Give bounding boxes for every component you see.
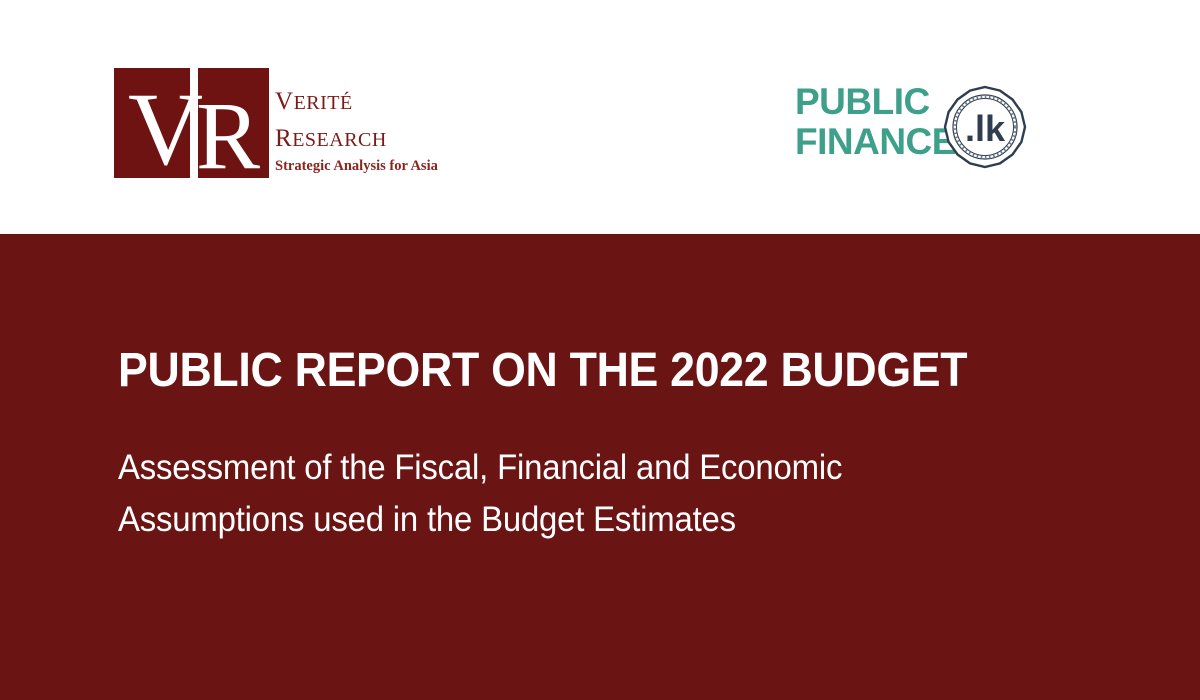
header-band: V R Verité Research Strategic Analysis f… [0,0,1200,234]
report-subtitle-line-1: Assessment of the Fiscal, Financial and … [118,442,1067,494]
vr-letter-r: R [196,88,260,184]
publicfinance-line-1: PUBLIC [795,82,955,122]
report-subtitle: Assessment of the Fiscal, Financial and … [118,398,1067,546]
title-banner: PUBLIC REPORT ON THE 2022 BUDGET Assessm… [0,234,1200,700]
vr-monogram-letters: V R [112,66,270,178]
verite-vr-monogram: V R [112,66,270,178]
report-title: PUBLIC REPORT ON THE 2022 BUDGET [118,344,1057,398]
verite-research-logo: V R Verité Research Strategic Analysis f… [112,66,462,182]
report-subtitle-line-2: Assumptions used in the Budget Estimates [118,494,1067,546]
title-block: PUBLIC REPORT ON THE 2022 BUDGET Assessm… [118,344,1128,546]
publicfinance-wordmark: PUBLIC FINANCE [795,82,955,162]
verite-name-line-1: Verité [275,80,465,117]
publicfinance-lk-logo: PUBLIC FINANCE .lk [795,82,1030,174]
verite-tagline: Strategic Analysis for Asia [275,158,465,175]
lk-seal-icon: .lk [943,85,1027,169]
report-cover-page: V R Verité Research Strategic Analysis f… [0,0,1200,700]
verite-wordmark: Verité Research Strategic Analysis for A… [275,80,465,175]
verite-name-line-2: Research [275,117,465,154]
svg-text:.lk: .lk [965,108,1006,149]
vr-letter-v: V [128,78,203,182]
publicfinance-line-2: FINANCE [795,122,955,162]
